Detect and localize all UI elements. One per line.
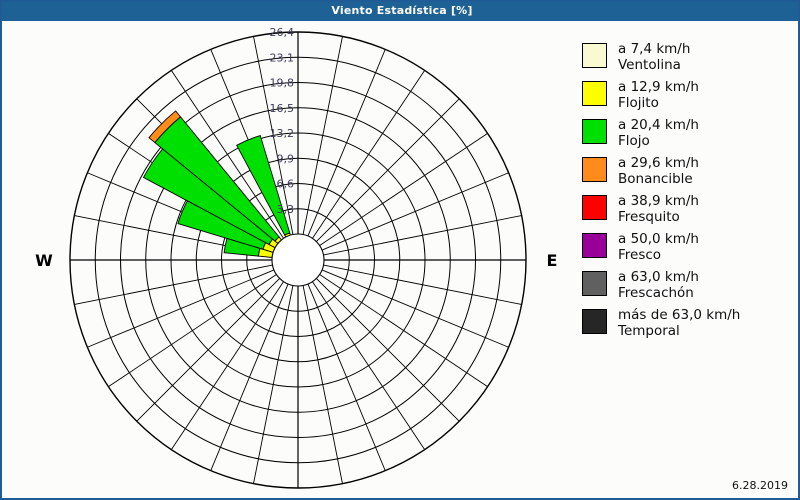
radial-tick-label: 9,9 xyxy=(277,152,295,165)
radial-tick-label: 16,5 xyxy=(270,102,295,115)
legend: a 7,4 km/hVentolinaa 12,9 km/hFlojitoa 2… xyxy=(582,42,798,346)
wind-rose-svg: 3,36,69,913,216,519,823,126,4 NESW xyxy=(4,22,570,500)
legend-speed: a 29,6 km/h xyxy=(618,155,699,171)
wind-rose-window: Viento Estadística [%] 3,36,69,913,216,5… xyxy=(0,0,800,500)
legend-item[interactable]: a 20,4 km/hFlojo xyxy=(582,118,798,149)
legend-name: Flojo xyxy=(618,134,699,150)
legend-label: a 29,6 km/hBonancible xyxy=(618,156,699,187)
legend-item[interactable]: a 38,9 km/hFresquito xyxy=(582,194,798,225)
grid-spoke xyxy=(74,265,272,304)
grid-spoke xyxy=(137,278,280,421)
legend-item[interactable]: a 50,0 km/hFresco xyxy=(582,232,798,263)
legend-color-swatch xyxy=(582,271,607,296)
legend-item[interactable]: a 7,4 km/hVentolina xyxy=(582,42,798,73)
legend-speed: a 50,0 km/h xyxy=(618,231,699,247)
legend-label: a 50,0 km/hFresco xyxy=(618,232,699,263)
grid-spoke xyxy=(316,278,459,421)
legend-speed: a 7,4 km/h xyxy=(618,41,690,57)
legend-label: a 20,4 km/hFlojo xyxy=(618,118,699,149)
grid-spoke xyxy=(316,99,459,242)
legend-speed: a 20,4 km/h xyxy=(618,117,699,133)
radial-tick-label: 19,8 xyxy=(270,77,295,90)
legend-speed: a 38,9 km/h xyxy=(618,193,699,209)
legend-color-swatch xyxy=(582,195,607,220)
grid-spoke xyxy=(322,173,509,250)
legend-label: a 7,4 km/hVentolina xyxy=(618,42,690,73)
radial-tick-label: 6,6 xyxy=(277,178,295,191)
date-stamp: 6.28.2019 xyxy=(732,479,788,492)
radial-tick-label: 26,4 xyxy=(270,26,295,39)
window-titlebar: Viento Estadística [%] xyxy=(2,2,800,21)
legend-color-swatch xyxy=(582,43,607,68)
legend-label: a 12,9 km/hFlojito xyxy=(618,80,699,111)
legend-label: más de 63,0 km/hTemporal xyxy=(618,308,740,339)
radial-tick-label: 13,2 xyxy=(270,127,295,140)
grid-spoke xyxy=(324,216,522,255)
legend-speed: a 63,0 km/h xyxy=(618,269,699,285)
hub-circle xyxy=(272,234,324,286)
grid-spoke xyxy=(254,286,293,484)
legend-speed: más de 63,0 km/h xyxy=(618,307,740,323)
legend-name: Ventolina xyxy=(618,58,690,74)
legend-name: Fresco xyxy=(618,248,699,264)
center-hub xyxy=(272,234,324,286)
legend-color-swatch xyxy=(582,233,607,258)
legend-item[interactable]: a 63,0 km/hFrescachón xyxy=(582,270,798,301)
legend-color-swatch xyxy=(582,81,607,106)
legend-name: Bonancible xyxy=(618,172,699,188)
legend-color-swatch xyxy=(582,119,607,144)
wind-rose-plot: 3,36,69,913,216,519,823,126,4 NESW xyxy=(4,22,570,500)
legend-label: a 63,0 km/hFrescachón xyxy=(618,270,699,301)
grid-spoke xyxy=(211,284,288,471)
radial-tick-label: 3,3 xyxy=(277,203,295,216)
legend-name: Flojito xyxy=(618,96,699,112)
grid-spoke xyxy=(303,36,342,234)
grid-spoke xyxy=(324,265,522,304)
grid-spoke xyxy=(303,286,342,484)
legend-item[interactable]: más de 63,0 km/hTemporal xyxy=(582,308,798,339)
legend-speed: a 12,9 km/h xyxy=(618,79,699,95)
legend-name: Temporal xyxy=(618,324,740,340)
legend-name: Fresquito xyxy=(618,210,699,226)
legend-item[interactable]: a 12,9 km/hFlojito xyxy=(582,80,798,111)
legend-item[interactable]: a 29,6 km/hBonancible xyxy=(582,156,798,187)
window-title: Viento Estadística [%] xyxy=(2,2,800,20)
radial-tick-label: 23,1 xyxy=(270,51,295,64)
compass-label-e: E xyxy=(547,251,558,270)
legend-name: Frescachón xyxy=(618,286,699,302)
legend-label: a 38,9 km/hFresquito xyxy=(618,194,699,225)
grid-spoke xyxy=(87,270,274,347)
grid-spoke xyxy=(308,284,385,471)
grid-spoke xyxy=(322,270,509,347)
compass-label-w: W xyxy=(35,251,53,270)
petal-layer xyxy=(143,111,290,257)
legend-color-swatch xyxy=(582,157,607,182)
grid-spoke xyxy=(308,49,385,236)
legend-color-swatch xyxy=(582,309,607,334)
